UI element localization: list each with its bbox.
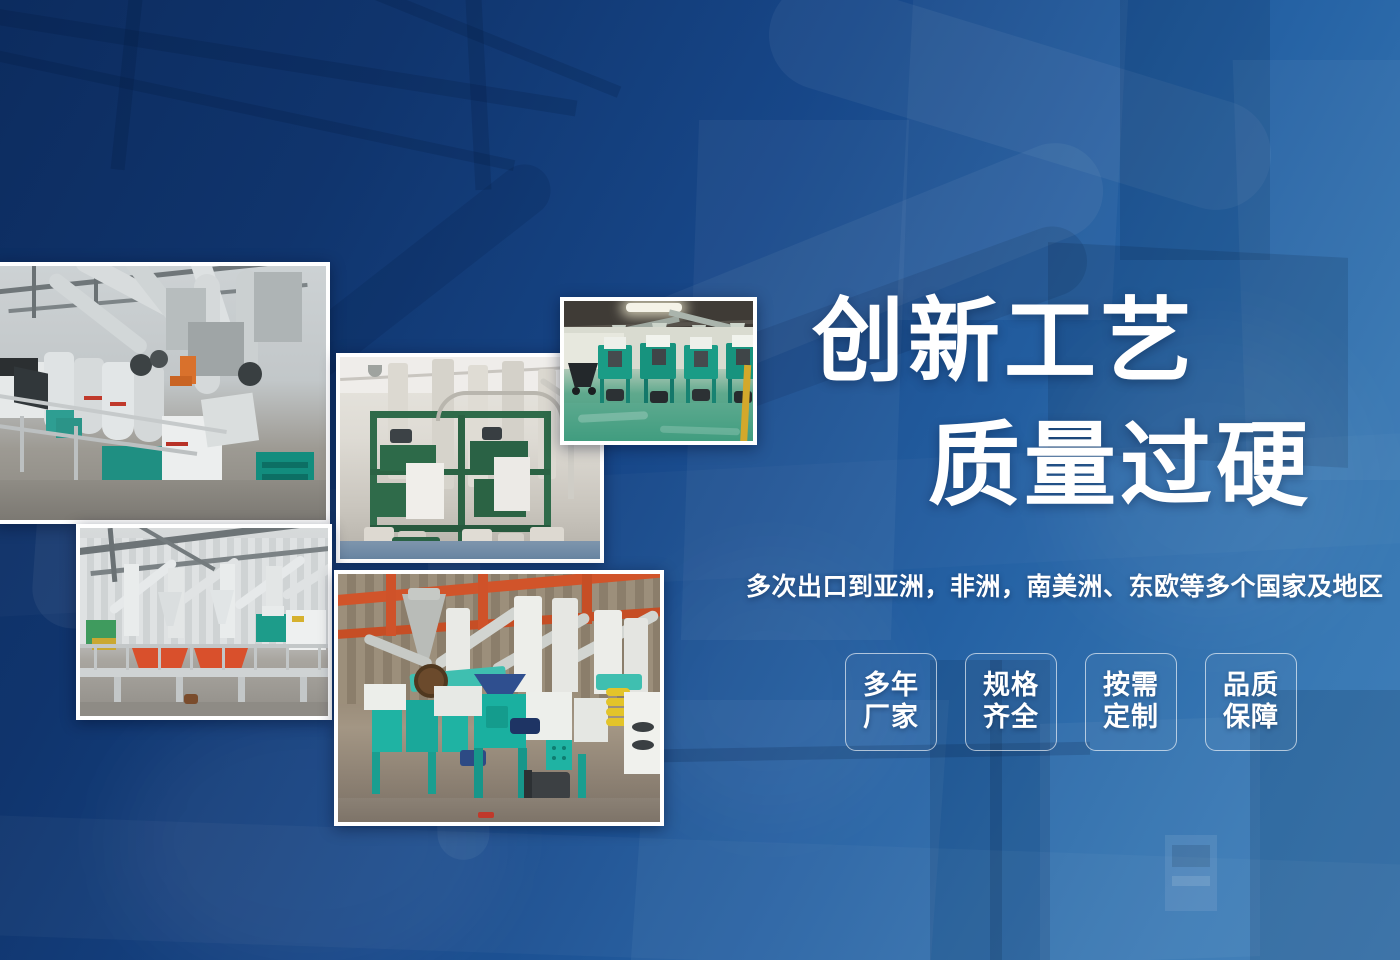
headline-line-1: 创新工艺 (812, 296, 1196, 390)
badge-line-2: 厂家 (863, 702, 919, 734)
headline-line-2: 质量过硬 (928, 420, 1312, 514)
feature-badge-custom-made[interactable]: 按需 定制 (1085, 653, 1177, 751)
badge-line-1: 多年 (863, 670, 919, 702)
banner-subtitle: 多次出口到亚洲，非洲，南美洲、东欧等多个国家及地区 (746, 567, 1384, 603)
collage-photo-3[interactable] (560, 297, 757, 445)
badge-line-2: 齐全 (983, 702, 1039, 734)
promo-banner: 创新工艺 质量过硬 多次出口到亚洲，非洲，南美洲、东欧等多个国家及地区 多年 厂… (0, 0, 1400, 960)
feature-badge-years-manufacturer[interactable]: 多年 厂家 (845, 653, 937, 751)
feature-badge-quality-guarantee[interactable]: 品质 保障 (1205, 653, 1297, 751)
badge-line-2: 保障 (1223, 702, 1279, 734)
collage-photo-1[interactable] (0, 262, 330, 524)
feature-badge-full-specs[interactable]: 规格 齐全 (965, 653, 1057, 751)
collage-photo-5[interactable] (334, 570, 664, 826)
badge-line-1: 品质 (1223, 670, 1279, 702)
collage-photo-4[interactable] (76, 524, 332, 720)
badge-line-1: 按需 (1103, 670, 1159, 702)
badge-line-2: 定制 (1103, 702, 1159, 734)
feature-badge-list: 多年 厂家 规格 齐全 按需 定制 品质 保障 (845, 653, 1297, 751)
badge-line-1: 规格 (983, 670, 1039, 702)
